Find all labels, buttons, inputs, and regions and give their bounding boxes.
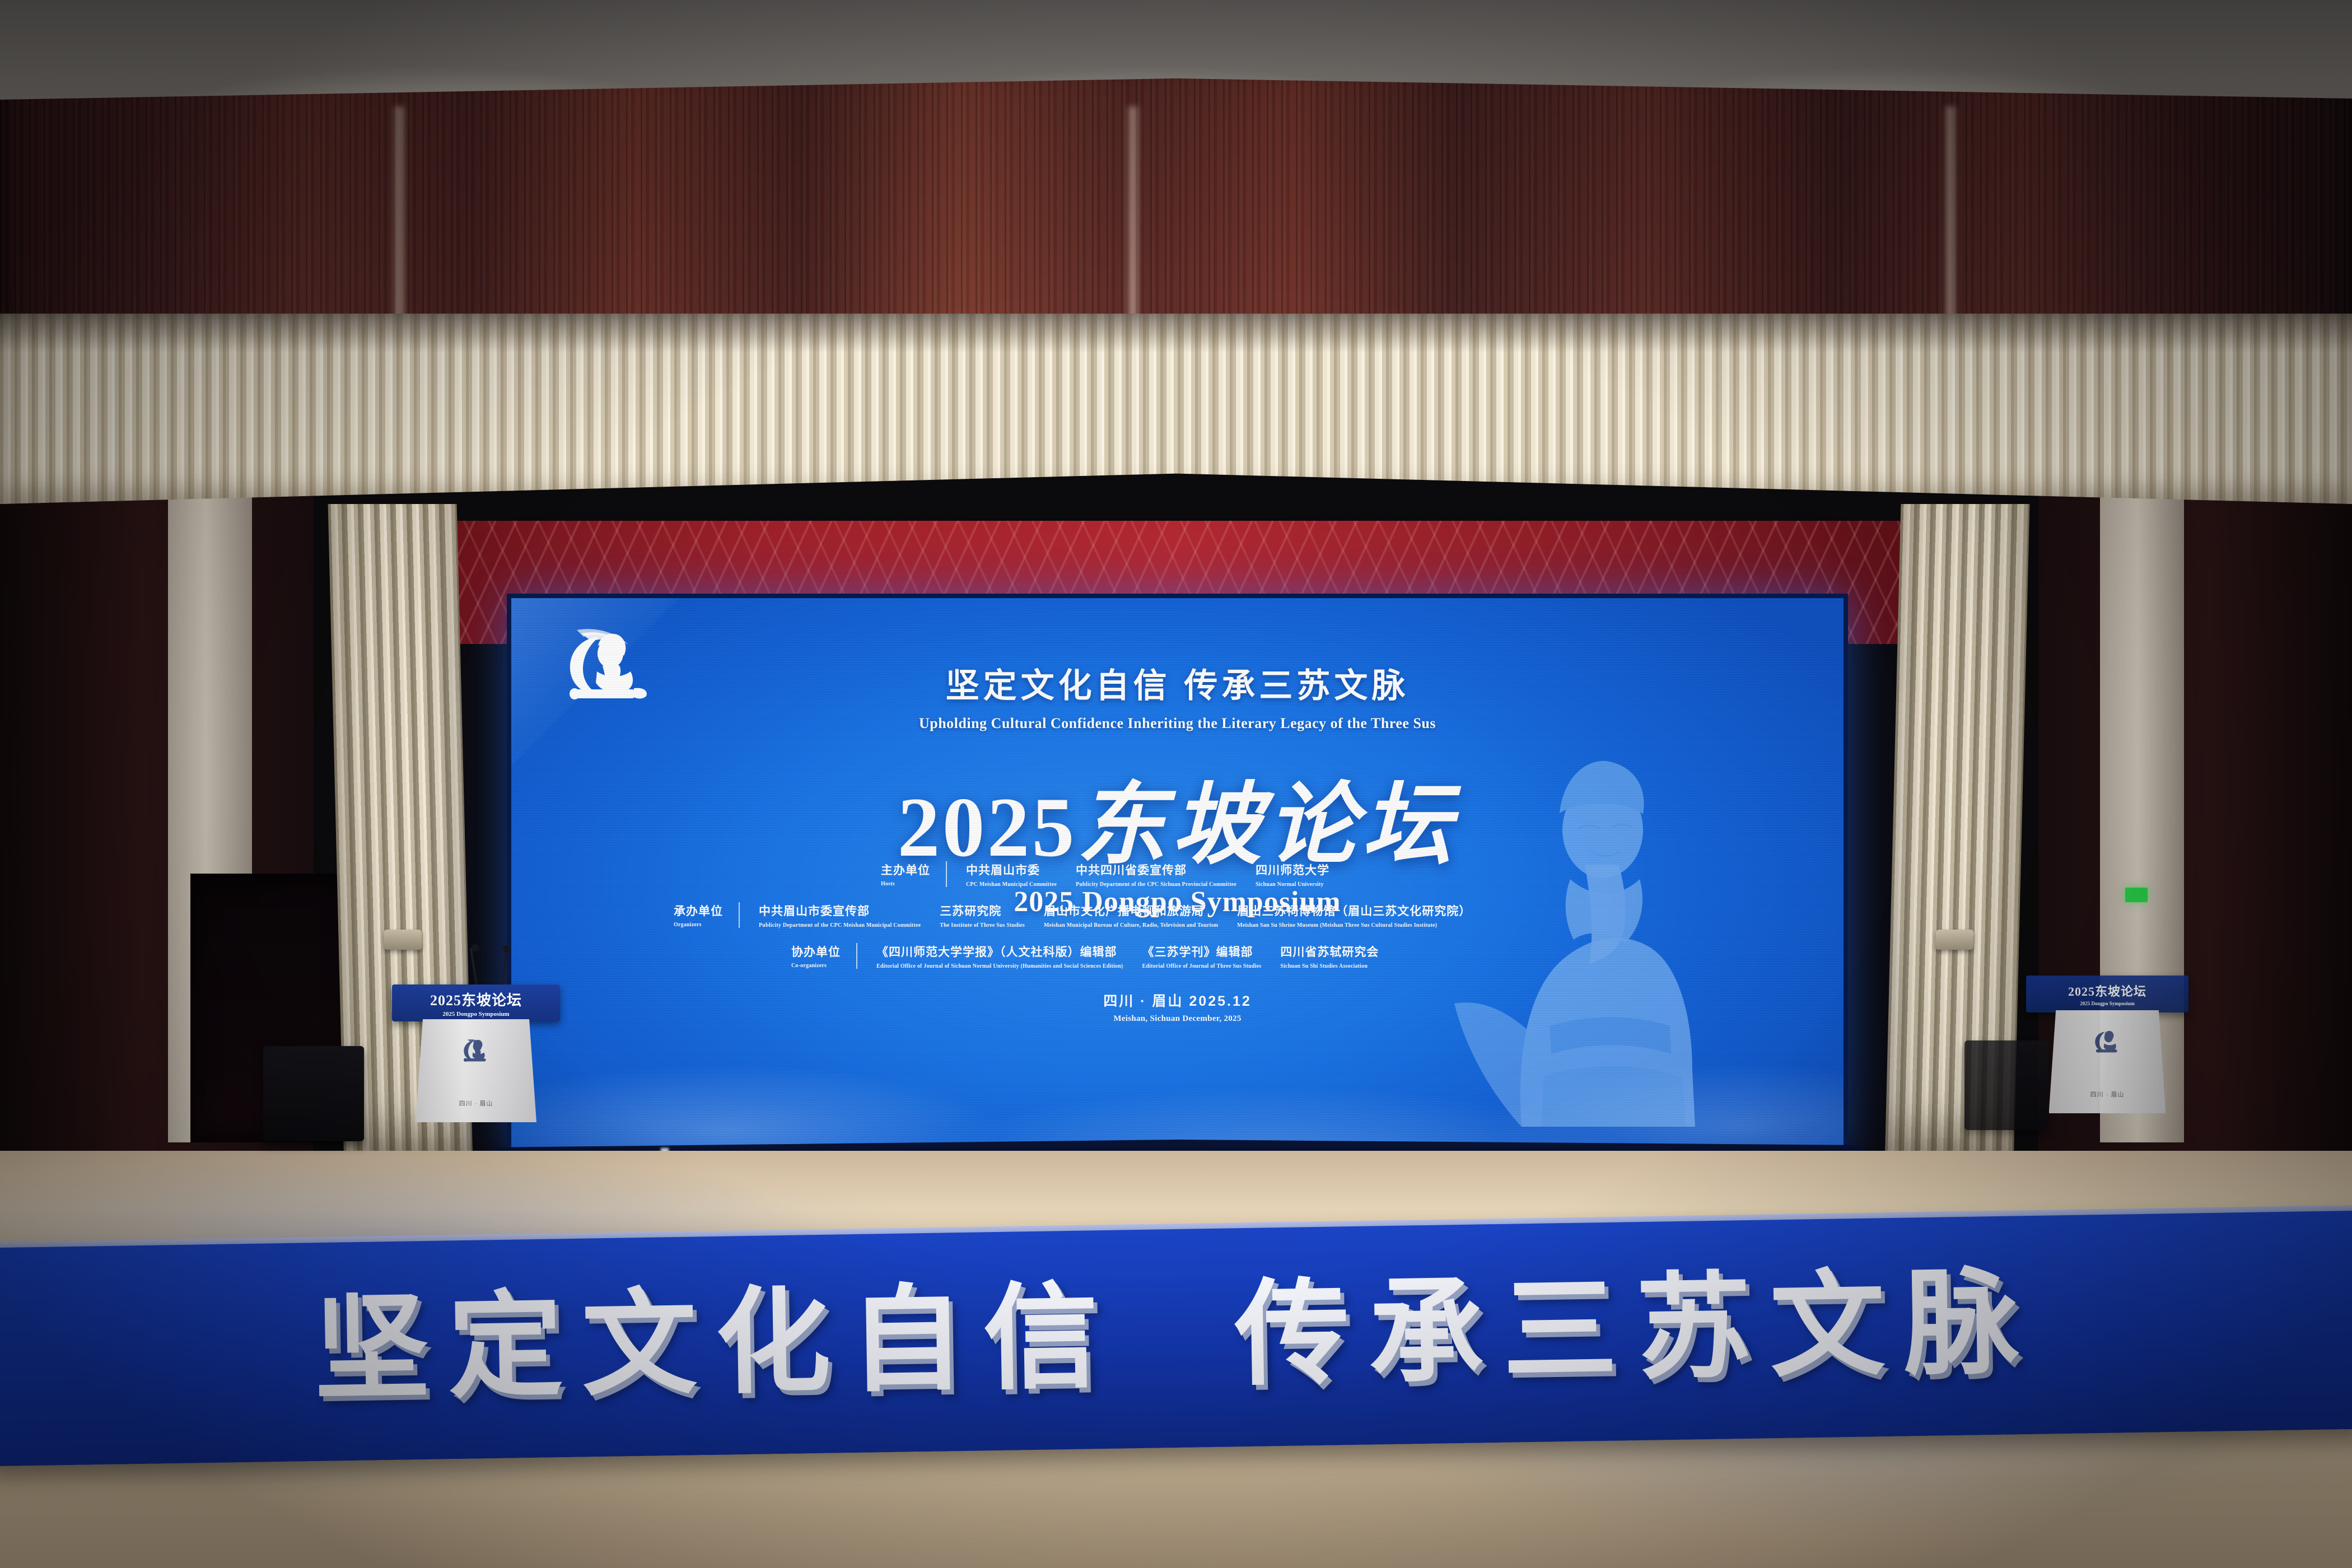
podium-left: 2025东坡论坛 2025 Dongpo Symposium 四川 · 眉山 xyxy=(392,984,560,1130)
led-screen: 坚定文化自信 传承三苏文脉 Upholding Cultural Confide… xyxy=(511,598,1844,1149)
organizer-item: 《三苏学刊》编辑部 Editorial Office of Journal of… xyxy=(1142,943,1262,969)
organizer-item: 眉山三苏祠博物馆（眉山三苏文化研究院） Meishan San Su Shrin… xyxy=(1237,902,1471,928)
organizer-name-en: Meishan Municipal Bureau of Culture, Rad… xyxy=(1044,922,1218,928)
organizer-item: 四川省苏轼研究会 Sichuan Su Shi Studies Associat… xyxy=(1280,943,1379,969)
wood-gleam xyxy=(392,106,407,347)
organizer-label-en: Organizers xyxy=(674,922,724,928)
organizer-name-cn: 三苏研究院 xyxy=(940,902,1025,919)
dongpo-crescent-scroll-logo-icon xyxy=(462,1038,490,1064)
organizer-item: 《四川师范大学学报》（人文社科版）编辑部 Editorial Office of… xyxy=(876,943,1123,969)
foreground-banner xyxy=(0,1211,2352,1467)
organizer-label-organizers: 承办单位 Organizers xyxy=(674,902,740,928)
stage-speaker-left xyxy=(263,1046,364,1141)
organizer-item: 中共眉山市委宣传部 Publicity Department of the CP… xyxy=(759,902,921,928)
organizer-name-en: Publicity Department of the CPC Meishan … xyxy=(759,922,921,928)
organizer-name-cn: 中共四川省委宣传部 xyxy=(1076,861,1236,878)
conference-stage-scene: 坚定文化自信 传承三苏文脉 Upholding Cultural Confide… xyxy=(0,0,2352,1568)
main-title-chinese: 东坡论坛 xyxy=(1076,776,1457,875)
organizer-name-en: Publicity Department of the CPC Sichuan … xyxy=(1076,881,1236,888)
podium-left-sign: 2025东坡论坛 2025 Dongpo Symposium xyxy=(392,984,560,1021)
organizer-name-cn: 眉山三苏祠博物馆（眉山三苏文化研究院） xyxy=(1237,902,1471,919)
organizer-name-cn: 四川师范大学 xyxy=(1256,861,1329,878)
venue-english: Meishan, Sichuan December, 2025 xyxy=(511,1014,1844,1024)
organizer-name-en: CPC Meishan Municipal Committee xyxy=(966,881,1057,888)
podium-sign-cn: 2025东坡论坛 xyxy=(2068,982,2146,1000)
slogan-chinese: 坚定文化自信 传承三苏文脉 xyxy=(511,659,1844,707)
organizer-label-cn: 协办单位 xyxy=(791,943,842,960)
organizer-row-hosts: 主办单位 Hosts 中共眉山市委 CPC Meishan Municipal … xyxy=(511,861,1844,888)
microphone-stem xyxy=(470,948,478,988)
organizer-name-en: Sichuan Normal University xyxy=(1256,881,1329,888)
organizer-name-en: Editorial Office of Journal of Sichuan N… xyxy=(876,963,1123,969)
organizer-name-cn: 眉山市文化广播电视和旅游局 xyxy=(1044,902,1218,919)
venue-chinese: 四川 · 眉山 2025.12 xyxy=(511,990,1844,1010)
main-title-year: 2025 xyxy=(897,780,1076,874)
podium-sign-en: 2025 Dongpo Symposium xyxy=(442,1011,509,1018)
podium-right: 2025东坡论坛 2025 Dongpo Symposium 四川 · 眉山 xyxy=(2026,976,2188,1116)
organizer-name-cn: 四川省苏轼研究会 xyxy=(1280,943,1379,960)
podium-location-text: 四川 · 眉山 xyxy=(416,1099,536,1108)
microphone-head xyxy=(503,945,510,953)
venue-block: 四川 · 眉山 2025.12 Meishan, Sichuan Decembe… xyxy=(511,990,1844,1024)
podium-sign-en: 2025 Dongpo Symposium xyxy=(2080,1001,2135,1006)
valance-shadow xyxy=(0,314,2352,353)
organizer-row-organizers: 承办单位 Organizers 中共眉山市委宣传部 Publicity Depa… xyxy=(511,902,1844,928)
organizer-label-cn: 承办单位 xyxy=(674,902,724,919)
organizer-name-cn: 《四川师范大学学报》（人文社科版）编辑部 xyxy=(876,943,1123,960)
organizer-name-en: Editorial Office of Journal of Three Sus… xyxy=(1142,963,1262,969)
drape-tieback-right xyxy=(1935,930,1974,950)
wood-gleam xyxy=(1126,106,1140,347)
organizer-name-cn: 中共眉山市委 xyxy=(966,861,1057,878)
organizer-label-en: Hosts xyxy=(881,881,931,887)
organizer-row-coorganizers: 协办单位 Co-organizers 《四川师范大学学报》（人文社科版）编辑部 … xyxy=(511,943,1844,969)
microphone-head xyxy=(472,944,479,951)
exit-sign-icon xyxy=(2125,888,2148,902)
organizer-name-en: Meishan San Su Shrine Museum (Meishan Th… xyxy=(1237,922,1471,928)
podium-right-sign: 2025东坡论坛 2025 Dongpo Symposium xyxy=(2026,976,2188,1012)
slogan-english: Upholding Cultural Confidence Inheriting… xyxy=(511,715,1844,732)
organizer-label-hosts: 主办单位 Hosts xyxy=(881,861,947,887)
organizers-block: 主办单位 Hosts 中共眉山市委 CPC Meishan Municipal … xyxy=(511,861,1844,984)
organizer-item: 四川师范大学 Sichuan Normal University xyxy=(1256,861,1329,888)
wood-gleam xyxy=(1943,106,1958,347)
organizer-name-cn: 中共眉山市委宣传部 xyxy=(759,902,921,919)
organizer-name-en: Sichuan Su Shi Studies Association xyxy=(1280,963,1379,969)
organizer-label-en: Co-organizers xyxy=(791,963,842,969)
dongpo-crescent-scroll-logo-icon xyxy=(2093,1029,2121,1055)
organizer-item: 中共眉山市委 CPC Meishan Municipal Committee xyxy=(966,861,1057,888)
organizer-label-coorganizers: 协办单位 Co-organizers xyxy=(791,943,857,969)
organizer-name-en: The Institute of Three Sus Studies xyxy=(940,922,1025,928)
podium-location-text: 四川 · 眉山 xyxy=(2049,1090,2166,1099)
organizer-item: 眉山市文化广播电视和旅游局 Meishan Municipal Bureau o… xyxy=(1044,902,1218,928)
podium-left-body: 四川 · 眉山 xyxy=(416,1019,536,1122)
podium-right-body: 四川 · 眉山 xyxy=(2049,1010,2166,1113)
led-screen-frame: 坚定文化自信 传承三苏文脉 Upholding Cultural Confide… xyxy=(507,594,1848,1154)
organizer-name-cn: 《三苏学刊》编辑部 xyxy=(1142,943,1262,960)
organizer-item: 中共四川省委宣传部 Publicity Department of the CP… xyxy=(1076,861,1236,888)
drape-tieback-left xyxy=(384,930,422,950)
podium-sign-cn: 2025东坡论坛 xyxy=(430,989,522,1010)
organizer-label-cn: 主办单位 xyxy=(881,861,931,878)
organizer-item: 三苏研究院 The Institute of Three Sus Studies xyxy=(940,902,1025,928)
